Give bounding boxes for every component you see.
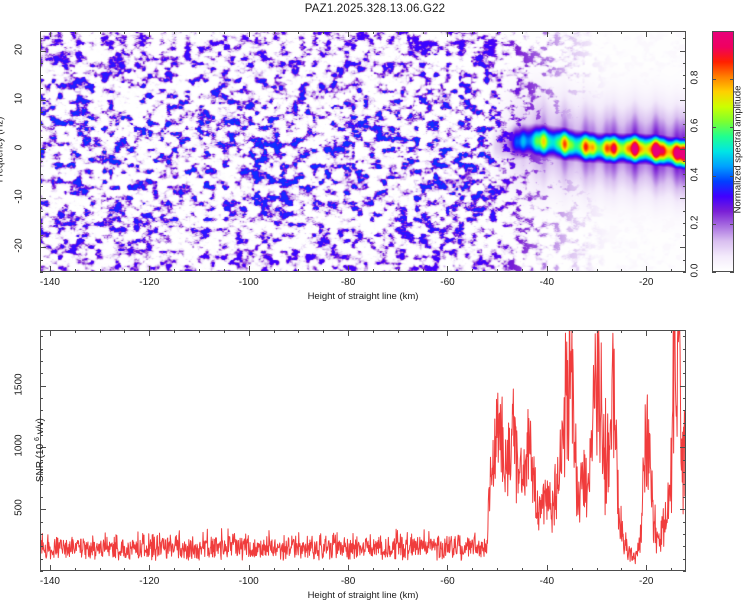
axis-major-tick [547,330,548,336]
xaxis-tick-label: -80 [328,576,368,587]
axis-minor-tick [671,269,672,272]
axis-major-tick [680,386,686,387]
axis-minor-tick [40,497,43,498]
axis-minor-tick [683,63,686,64]
axis-major-tick [40,149,46,150]
axis-minor-tick [40,137,43,138]
axis-minor-tick [497,31,498,34]
xaxis-tick-label: -60 [427,277,467,288]
axis-major-tick [348,31,349,37]
axis-minor-tick [683,546,686,547]
axis-minor-tick [683,260,686,261]
axis-major-tick [348,330,349,336]
axis-minor-tick [423,568,424,571]
axis-minor-tick [373,269,374,272]
axis-major-tick [249,565,250,571]
colorbar-tick-label: 0.2 [690,209,701,235]
axis-major-tick [680,51,686,52]
axis-minor-tick [224,269,225,272]
colorbar-tick-label: 0.4 [690,161,701,187]
axis-minor-tick [124,31,125,34]
axis-minor-tick [199,568,200,571]
axis-minor-tick [100,330,101,333]
axis-minor-tick [40,272,43,273]
axis-minor-tick [683,410,686,411]
axis-minor-tick [40,211,43,212]
axis-minor-tick [597,269,598,272]
axis-minor-tick [40,559,43,560]
axis-major-tick [348,565,349,571]
colorbar-tick [712,127,716,128]
axis-minor-tick [40,398,43,399]
axis-minor-tick [100,31,101,34]
axis-major-tick [646,565,647,571]
axis-major-tick [40,100,46,101]
axis-minor-tick [472,269,473,272]
axis-minor-tick [40,546,43,547]
axis-minor-tick [274,269,275,272]
axis-minor-tick [40,336,43,337]
colorbar-tick [730,272,734,273]
axis-minor-tick [683,398,686,399]
xaxis-tick-label: -40 [527,277,567,288]
axis-major-tick [149,31,150,37]
axis-minor-tick [40,88,43,89]
axis-minor-tick [323,31,324,34]
colorbar-tick [712,224,716,225]
axis-minor-tick [683,484,686,485]
axis-minor-tick [100,269,101,272]
axis-minor-tick [671,568,672,571]
axis-major-tick [646,266,647,272]
axis-minor-tick [522,330,523,333]
axis-minor-tick [40,174,43,175]
axis-minor-tick [40,75,43,76]
snr-trace [41,331,686,571]
axis-minor-tick [274,330,275,333]
axis-minor-tick [683,472,686,473]
axis-major-tick [680,447,686,448]
xaxis-tick-label: -140 [30,277,70,288]
spectrogram-yaxis-title: Frequency (Hz) [0,89,6,209]
axis-major-tick [547,266,548,272]
axis-major-tick [348,266,349,272]
axis-minor-tick [683,161,686,162]
axis-minor-tick [683,373,686,374]
yaxis-tick-label: 20 [14,34,25,64]
axis-minor-tick [683,272,686,273]
axis-minor-tick [224,31,225,34]
snr-yaxis-title: SNR (10 6 v/v) [32,405,46,495]
axis-major-tick [680,247,686,248]
axis-minor-tick [40,161,43,162]
colorbar-title: Normalized spectral amplitude [733,74,744,224]
xaxis-tick-label: -120 [129,576,169,587]
axis-minor-tick [472,330,473,333]
snr-xaxis-title: Height of straight line (km) [40,590,686,601]
axis-minor-tick [683,75,686,76]
axis-minor-tick [572,330,573,333]
axis-minor-tick [683,186,686,187]
axis-minor-tick [323,568,324,571]
axis-minor-tick [298,269,299,272]
axis-major-tick [40,509,46,510]
figure-title: PAZ1.2025.328.13.06.G22 [0,3,750,15]
axis-minor-tick [75,269,76,272]
axis-minor-tick [597,330,598,333]
axis-minor-tick [40,361,43,362]
axis-major-tick [149,565,150,571]
axis-major-tick [249,266,250,272]
axis-minor-tick [683,336,686,337]
axis-minor-tick [621,330,622,333]
axis-major-tick [40,51,46,52]
axis-minor-tick [323,269,324,272]
axis-minor-tick [522,31,523,34]
axis-minor-tick [683,361,686,362]
axis-minor-tick [423,330,424,333]
xaxis-tick-label: -140 [30,576,70,587]
axis-minor-tick [683,497,686,498]
axis-major-tick [680,509,686,510]
axis-minor-tick [274,31,275,34]
axis-minor-tick [671,31,672,34]
axis-minor-tick [124,568,125,571]
yaxis-tick-label: 1500 [14,369,25,399]
axis-minor-tick [683,174,686,175]
axis-minor-tick [683,211,686,212]
yaxis-tick-label: 0 [14,133,25,163]
axis-minor-tick [373,31,374,34]
axis-minor-tick [199,269,200,272]
axis-minor-tick [373,568,374,571]
axis-minor-tick [40,349,43,350]
axis-minor-tick [683,88,686,89]
axis-minor-tick [472,568,473,571]
snr-line [41,331,686,564]
colorbar-tick-label: 0.0 [690,258,701,284]
axis-major-tick [249,330,250,336]
axis-major-tick [50,266,51,272]
axis-minor-tick [174,568,175,571]
axis-minor-tick [75,31,76,34]
axis-minor-tick [40,260,43,261]
axis-minor-tick [274,568,275,571]
axis-minor-tick [683,571,686,572]
yaxis-tick-label: 1000 [14,431,25,461]
axis-minor-tick [124,269,125,272]
axis-minor-tick [621,269,622,272]
axis-minor-tick [298,568,299,571]
axis-minor-tick [621,31,622,34]
axis-minor-tick [40,63,43,64]
axis-major-tick [547,31,548,37]
axis-minor-tick [398,31,399,34]
axis-minor-tick [683,559,686,560]
axis-major-tick [149,330,150,336]
axis-minor-tick [597,568,598,571]
axis-minor-tick [398,330,399,333]
axis-minor-tick [683,460,686,461]
axis-minor-tick [75,568,76,571]
axis-major-tick [447,330,448,336]
axis-major-tick [646,31,647,37]
axis-minor-tick [298,330,299,333]
axis-minor-tick [174,330,175,333]
xaxis-tick-label: -20 [626,576,666,587]
axis-minor-tick [199,330,200,333]
snr-panel [40,330,686,571]
yaxis-tick-label: 10 [14,83,25,113]
axis-minor-tick [497,330,498,333]
figure-root: PAZ1.2025.328.13.06.G22 -140-120-100-80-… [0,0,750,600]
axis-minor-tick [683,349,686,350]
axis-minor-tick [683,534,686,535]
axis-major-tick [40,386,46,387]
axis-minor-tick [323,330,324,333]
axis-minor-tick [683,423,686,424]
xaxis-tick-label: -120 [129,277,169,288]
axis-minor-tick [497,568,498,571]
axis-minor-tick [683,112,686,113]
axis-minor-tick [40,186,43,187]
axis-minor-tick [298,31,299,34]
colorbar [712,31,734,272]
spectrogram-image [41,32,686,272]
axis-minor-tick [683,38,686,39]
axis-minor-tick [683,137,686,138]
axis-minor-tick [683,522,686,523]
axis-minor-tick [174,269,175,272]
xaxis-tick-label: -100 [229,576,269,587]
axis-minor-tick [40,223,43,224]
axis-minor-tick [572,269,573,272]
axis-minor-tick [398,568,399,571]
axis-minor-tick [40,124,43,125]
axis-minor-tick [572,31,573,34]
axis-minor-tick [597,31,598,34]
axis-minor-tick [683,223,686,224]
axis-major-tick [680,198,686,199]
axis-minor-tick [174,31,175,34]
axis-minor-tick [124,330,125,333]
axis-minor-tick [75,330,76,333]
axis-major-tick [447,565,448,571]
axis-minor-tick [671,330,672,333]
xaxis-tick-label: -40 [527,576,567,587]
axis-minor-tick [472,31,473,34]
colorbar-tick-label: 0.6 [690,113,701,139]
axis-major-tick [50,565,51,571]
axis-major-tick [680,149,686,150]
axis-minor-tick [621,568,622,571]
axis-minor-tick [683,435,686,436]
axis-minor-tick [423,31,424,34]
axis-minor-tick [40,112,43,113]
axis-major-tick [447,266,448,272]
axis-minor-tick [398,269,399,272]
colorbar-tick [712,79,716,80]
xaxis-tick-label: -80 [328,277,368,288]
axis-major-tick [646,330,647,336]
axis-minor-tick [572,568,573,571]
colorbar-tick [712,272,716,273]
axis-major-tick [680,100,686,101]
colorbar-gradient [713,32,733,271]
axis-major-tick [50,31,51,37]
axis-minor-tick [199,31,200,34]
axis-minor-tick [373,330,374,333]
spectrogram-xaxis-title: Height of straight line (km) [40,291,686,302]
colorbar-tick [712,176,716,177]
axis-minor-tick [683,235,686,236]
axis-minor-tick [40,373,43,374]
yaxis-tick-label: -20 [14,231,25,261]
axis-minor-tick [522,269,523,272]
axis-major-tick [50,330,51,336]
axis-major-tick [149,266,150,272]
yaxis-tick-label: -10 [14,182,25,212]
axis-minor-tick [40,534,43,535]
axis-minor-tick [40,235,43,236]
axis-major-tick [547,565,548,571]
xaxis-tick-label: -100 [229,277,269,288]
axis-minor-tick [100,568,101,571]
axis-minor-tick [497,269,498,272]
axis-major-tick [249,31,250,37]
yaxis-tick-label: 500 [14,493,25,523]
xaxis-tick-label: -20 [626,277,666,288]
axis-minor-tick [522,568,523,571]
axis-major-tick [40,198,46,199]
xaxis-tick-label: -60 [427,576,467,587]
axis-minor-tick [40,522,43,523]
axis-major-tick [40,247,46,248]
colorbar-tick-label: 0.8 [690,65,701,91]
axis-minor-tick [423,269,424,272]
axis-minor-tick [683,124,686,125]
axis-major-tick [447,31,448,37]
axis-minor-tick [40,38,43,39]
axis-minor-tick [224,568,225,571]
axis-minor-tick [224,330,225,333]
spectrogram-panel [40,31,686,272]
axis-minor-tick [40,571,43,572]
